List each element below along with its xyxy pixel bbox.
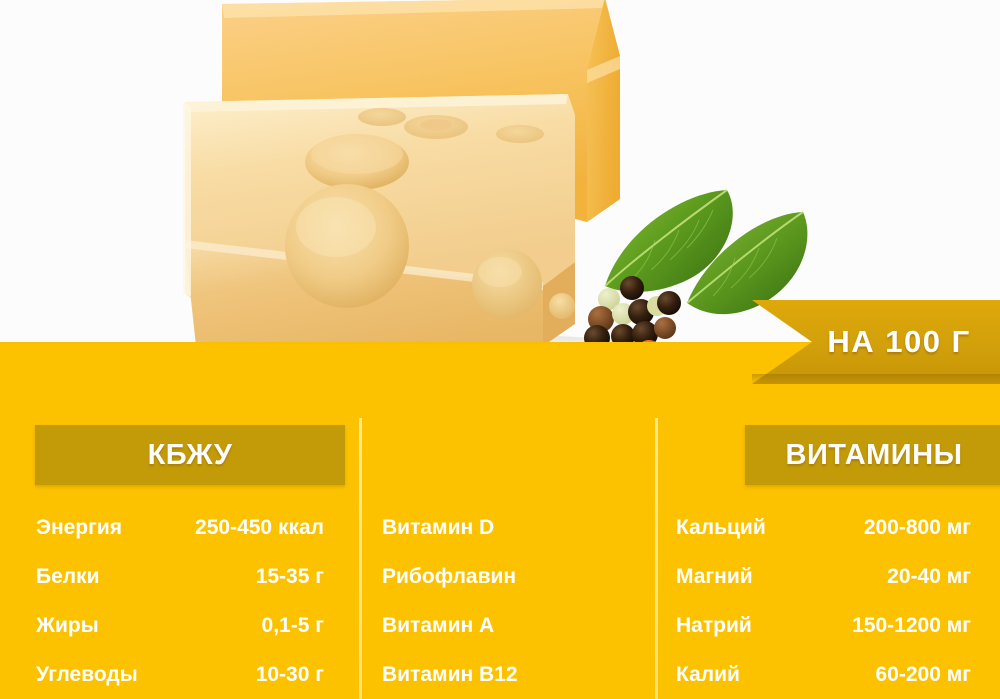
row-list-minerals: Кальций 200-800 мг Магний 20-40 мг Натри… bbox=[659, 516, 1000, 699]
nutrition-columns: КБЖУ Энергия 250-450 ккал Белки 15-35 г … bbox=[0, 342, 1000, 699]
row-value: 10-30 г bbox=[256, 663, 324, 687]
cheese-hole-highlight bbox=[311, 134, 403, 174]
hero-illustration-area bbox=[0, 0, 1000, 345]
peppercorn bbox=[657, 291, 681, 315]
cheese-wedge-front bbox=[183, 94, 575, 346]
row-value: 250-450 ккал bbox=[195, 516, 324, 540]
table-row: Рибофлавин bbox=[382, 565, 636, 614]
table-row: Энергия 250-450 ккал bbox=[36, 516, 324, 565]
row-label: Магний bbox=[676, 565, 753, 589]
infographic-root: НА 100 Г КБЖУ Энергия 250-450 ккал Белки… bbox=[0, 0, 1000, 699]
table-row: Углеводы 10-30 г bbox=[36, 663, 324, 699]
row-value: 0,1-5 г bbox=[262, 614, 324, 638]
cheese-hole-highlight bbox=[478, 257, 522, 287]
row-value: 150-1200 мг bbox=[852, 614, 971, 638]
row-list-kbzhu: Энергия 250-450 ккал Белки 15-35 г Жиры … bbox=[0, 516, 360, 699]
table-row: Белки 15-35 г bbox=[36, 565, 324, 614]
row-label: Рибофлавин bbox=[382, 565, 516, 589]
row-label: Углеводы bbox=[36, 663, 138, 687]
table-row: Натрий 150-1200 мг bbox=[676, 614, 971, 663]
column-title: КБЖУ bbox=[148, 439, 233, 472]
row-label: Натрий bbox=[676, 614, 752, 638]
row-label: Витамин A bbox=[382, 614, 494, 638]
row-label: Витамин B12 bbox=[382, 663, 518, 687]
cheese-hole-highlight bbox=[296, 197, 376, 257]
table-row: Витамин D bbox=[382, 516, 636, 565]
table-row: Кальций 200-800 мг bbox=[676, 516, 971, 565]
table-row: Витамин A bbox=[382, 614, 636, 663]
row-label: Белки bbox=[36, 565, 100, 589]
column-minerals: МИНЕРАЛЫ Кальций 200-800 мг Магний 20-40… bbox=[659, 342, 1000, 699]
column-vitamins: ВИТАМИНЫ Витамин D Рибофлавин Витамин A … bbox=[363, 342, 656, 699]
cheese-hole bbox=[358, 108, 406, 126]
row-value: 20-40 мг bbox=[887, 565, 971, 589]
table-row: Магний 20-40 мг bbox=[676, 565, 971, 614]
table-row: Калий 60-200 мг bbox=[676, 663, 971, 699]
column-header-kbzhu: КБЖУ bbox=[35, 425, 345, 485]
row-label: Энергия bbox=[36, 516, 122, 540]
row-label: Витамин D bbox=[382, 516, 494, 540]
row-label: Кальций bbox=[676, 516, 766, 540]
row-list-vitamins: Витамин D Рибофлавин Витамин A Витамин B… bbox=[363, 516, 656, 699]
row-value: 200-800 мг bbox=[864, 516, 971, 540]
table-row: Жиры 0,1-5 г bbox=[36, 614, 324, 663]
row-value: 60-200 мг bbox=[875, 663, 971, 687]
table-row: Витамин B12 bbox=[382, 663, 636, 699]
cheese-hole bbox=[549, 293, 575, 319]
cheese-hole bbox=[420, 119, 452, 131]
row-label: Жиры bbox=[36, 614, 99, 638]
peppercorn bbox=[654, 317, 676, 339]
row-value: 15-35 г bbox=[256, 565, 324, 589]
column-kbzhu: КБЖУ Энергия 250-450 ккал Белки 15-35 г … bbox=[0, 342, 360, 699]
cheese-hole bbox=[496, 125, 544, 143]
peppercorn bbox=[620, 276, 644, 300]
row-label: Калий bbox=[676, 663, 740, 687]
